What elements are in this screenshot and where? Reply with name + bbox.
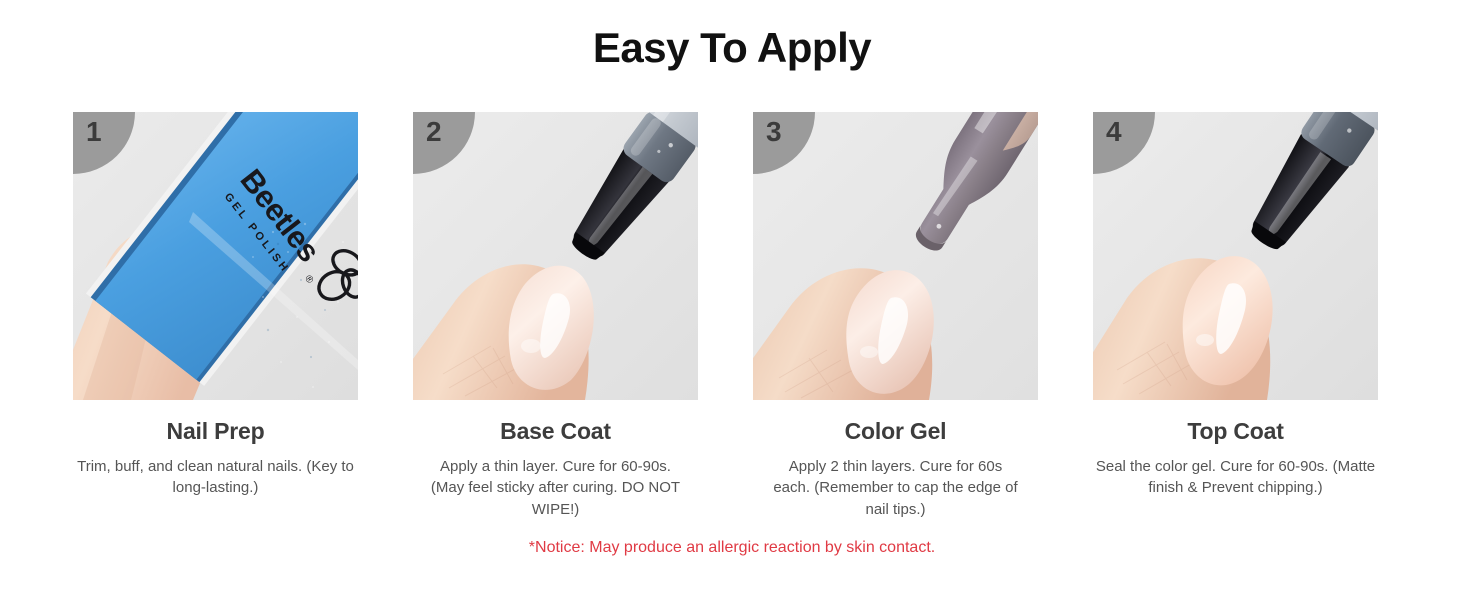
step-number-1: 1 [86, 118, 102, 146]
step-title-4: Top Coat [1187, 418, 1283, 446]
page-title: Easy To Apply [0, 25, 1464, 71]
easy-to-apply-infographic: Easy To Apply [0, 0, 1464, 600]
step-photo-1: Beetles GEL POLISH ® [73, 112, 358, 400]
step-card-2: 2 Base Coat Apply a thin layer. Cure for… [413, 112, 698, 521]
step-desc-4: Seal the color gel. Cure for 60-90s. (Ma… [1086, 456, 1386, 500]
step-title-1: Nail Prep [167, 418, 265, 446]
step-photo-2: 2 [413, 112, 698, 400]
step-desc-3: Apply 2 thin layers. Cure for 60s each. … [771, 456, 1021, 521]
step-title-2: Base Coat [500, 418, 611, 446]
step-card-3: 3 Color Gel Apply 2 thin layers. Cure fo… [753, 112, 1038, 521]
step-number-2: 2 [426, 118, 442, 146]
step-card-1: Beetles GEL POLISH ® [73, 112, 358, 521]
step-card-4: 4 Top Coat Seal the color gel. Cure for … [1093, 112, 1378, 521]
step-photo-3: 3 [753, 112, 1038, 400]
step-desc-2: Apply a thin layer. Cure for 60-90s. (Ma… [431, 456, 681, 521]
steps-row: Beetles GEL POLISH ® [73, 112, 1391, 521]
step-photo-4: 4 [1093, 112, 1378, 400]
step-title-3: Color Gel [845, 418, 947, 446]
step-number-4: 4 [1106, 118, 1122, 146]
allergy-notice: *Notice: May produce an allergic reactio… [0, 538, 1464, 559]
step-desc-1: Trim, buff, and clean natural nails. (Ke… [66, 456, 366, 500]
step-number-3: 3 [766, 118, 782, 146]
